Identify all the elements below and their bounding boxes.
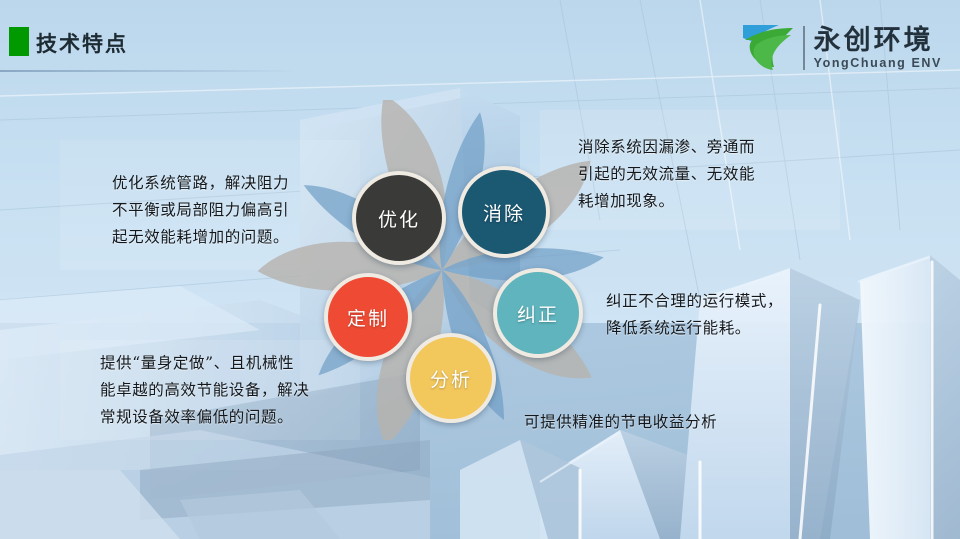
company-logo: 永创环境 YongChuang ENV xyxy=(739,22,942,74)
logo-name-cn: 永创环境 xyxy=(814,27,942,54)
caption-jiuzheng: 纠正不合理的运行模式， 降低系统运行能耗。 xyxy=(606,288,826,342)
bubble-fenxi[interactable]: 分析 xyxy=(406,333,496,423)
green-square-marker-icon xyxy=(9,27,29,56)
bubble-youhua-label: 优化 xyxy=(378,205,420,232)
bubble-youhua[interactable]: 优化 xyxy=(352,171,446,265)
bubble-jiuzheng-label: 纠正 xyxy=(517,300,559,327)
caption-youhua: 优化系统管路，解决阻力 不平衡或局部阻力偏高引 起无效能耗增加的问题。 xyxy=(112,170,352,251)
caption-fenxi: 可提供精准的节电收益分析 xyxy=(524,409,784,436)
yongchuang-leaf-logo-icon xyxy=(739,22,797,74)
logo-name-en: YongChuang ENV xyxy=(814,57,942,70)
caption-xiaochu: 消除系统因漏渗、旁通而 引起的无效流量、无效能 耗增加现象。 xyxy=(578,134,803,215)
bubble-xiaochu[interactable]: 消除 xyxy=(458,166,550,258)
header-rule xyxy=(0,70,300,72)
logo-divider xyxy=(803,26,805,70)
slide-canvas: 技术特点 永创环境 YongChuang ENV xyxy=(0,0,960,539)
bubble-dingzhi[interactable]: 定制 xyxy=(324,273,412,361)
caption-dingzhi: 提供“量身定做”、且机械性 能卓越的高效节能设备，解决 常规设备效率偏低的问题。 xyxy=(100,350,362,431)
bubble-jiuzheng[interactable]: 纠正 xyxy=(493,268,583,358)
bubble-xiaochu-label: 消除 xyxy=(483,199,525,226)
page-title: 技术特点 xyxy=(36,28,128,58)
bubble-dingzhi-label: 定制 xyxy=(347,304,389,331)
bubble-fenxi-label: 分析 xyxy=(430,365,472,392)
